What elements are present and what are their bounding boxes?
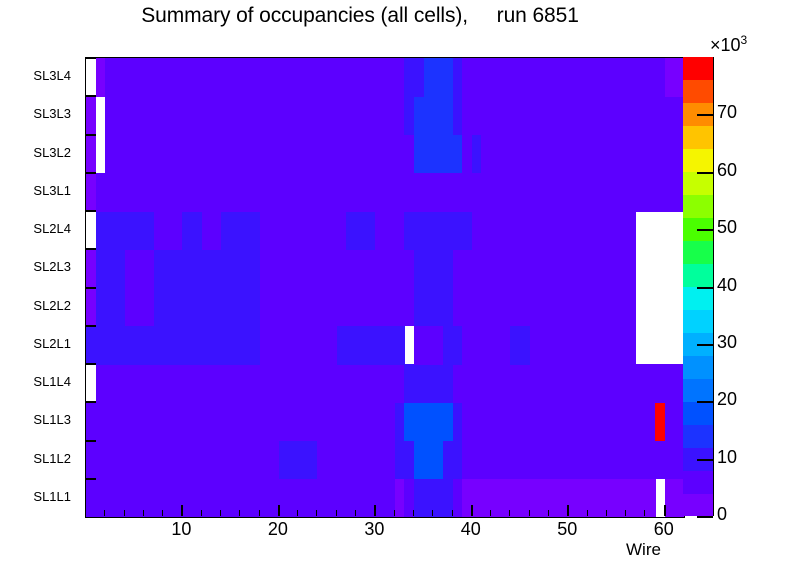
color-scale-label-50: 50 [717,217,737,238]
color-scale-label-0: 0 [717,504,727,525]
color-scale-band [683,287,713,310]
color-scale-band [683,424,713,447]
color-scale-band [683,378,713,401]
color-scale-axis [713,57,714,516]
heatmap-cell[interactable] [626,288,636,327]
x-axis-tick-minor [336,510,337,516]
y-axis-tick [85,287,96,289]
x-axis-tick-major [664,505,666,516]
x-axis-tick-minor [548,510,549,516]
color-scale-band [683,241,713,264]
x-axis-tick-minor [355,510,356,516]
color-scale-band [683,80,713,103]
y-axis-label-sl3l3: SL3L3 [0,106,71,121]
y-axis-tick [85,325,96,327]
x-axis-tick-minor [625,510,626,516]
x-axis-tick-major [567,505,569,516]
heatmap-cell[interactable] [86,96,96,135]
x-axis-title: Wire [626,540,661,560]
y-axis-tick [85,210,96,212]
y-axis-label-sl2l1: SL2L1 [0,336,71,351]
y-axis-tick [85,478,96,480]
color-scale-band [683,149,713,172]
x-axis-tick-minor [201,510,202,516]
y-axis-label-sl3l2: SL3L2 [0,145,71,160]
color-scale-exponent: 3 [741,33,748,47]
color-scale-label-30: 30 [717,332,737,353]
color-scale-tick [697,172,713,174]
heatmap-cell[interactable] [395,326,405,365]
x-axis-tick-minor [162,510,163,516]
y-axis-tick [85,248,96,250]
x-axis-label-10: 10 [156,519,206,540]
x-axis-tick-major [471,505,473,516]
color-scale-tick [697,459,713,461]
color-scale-label-60: 60 [717,160,737,181]
y-axis-label-sl2l2: SL2L2 [0,298,71,313]
x-axis-tick-minor [452,510,453,516]
color-scale-label-10: 10 [717,447,737,468]
x-axis-tick-minor [259,510,260,516]
color-scale-label-20: 20 [717,389,737,410]
y-axis-label-sl3l1: SL3L1 [0,183,71,198]
y-axis-label-sl3l4: SL3L4 [0,68,71,83]
heatmap-cells[interactable] [86,58,684,517]
x-axis-tick-major [278,505,280,516]
x-axis-tick-minor [104,510,105,516]
color-scale-label-70: 70 [717,102,737,123]
x-axis-tick-minor [432,510,433,516]
page-title: Summary of occupancies (all cells), run … [0,4,720,28]
y-axis-tick [85,95,96,97]
heatmap-frame[interactable] [85,57,685,518]
x-axis-tick-minor [587,510,588,516]
x-axis-tick-minor [316,510,317,516]
y-axis-label-sl1l3: SL1L3 [0,412,71,427]
color-scale-tick [697,401,713,403]
x-axis-tick-major [374,505,376,516]
color-scale-label-40: 40 [717,275,737,296]
x-axis-label-20: 20 [253,519,303,540]
y-axis-label-sl2l4: SL2L4 [0,221,71,236]
color-scale-band [683,126,713,149]
x-axis-tick-minor [509,510,510,516]
y-axis-tick [85,363,96,365]
x-axis-tick-minor [239,510,240,516]
color-scale-band [683,355,713,378]
y-axis-label-sl1l2: SL1L2 [0,451,71,466]
x-axis-label-60: 60 [639,519,689,540]
x-axis-tick-minor [606,510,607,516]
heatmap-cell[interactable] [626,249,636,288]
heatmap-cell[interactable] [626,211,636,250]
x-axis-label-30: 30 [349,519,399,540]
heatmap-cell[interactable] [645,479,655,517]
color-scale-band [683,493,713,516]
color-scale-tick [697,516,713,518]
x-axis-tick-major [181,505,183,516]
y-axis-label-sl1l4: SL1L4 [0,374,71,389]
color-scale-band [683,401,713,424]
x-axis-tick-minor [124,510,125,516]
heatmap-cell[interactable] [626,326,636,365]
x-axis-tick-minor [394,510,395,516]
color-scale-tick [697,114,713,116]
x-axis-label-50: 50 [542,519,592,540]
x-axis-label-40: 40 [446,519,496,540]
y-axis-tick [85,401,96,403]
x-axis-tick-minor [297,510,298,516]
y-axis-label-sl2l3: SL2L3 [0,259,71,274]
color-scale-tick [697,287,713,289]
x-axis-tick-minor [143,510,144,516]
x-axis-tick-minor [413,510,414,516]
y-axis-tick [85,134,96,136]
color-scale-tick [697,229,713,231]
y-axis-tick [85,172,96,174]
y-axis-tick [85,440,96,442]
x-axis-tick-minor [220,510,221,516]
x-axis-tick-minor [644,510,645,516]
color-scale-tick [697,344,713,346]
x-axis-tick-minor [529,510,530,516]
color-scale-multiplier: ×103 [710,33,747,56]
color-scale-band [683,57,713,80]
x-axis-tick-minor [490,510,491,516]
color-scale-band [683,309,713,332]
heatmap-cell[interactable] [86,135,96,174]
color-scale-band [683,264,713,287]
y-axis-tick [85,57,96,59]
color-scale-band [683,195,713,218]
plot-canvas: Summary of occupancies (all cells), run … [0,0,796,572]
color-scale-band [683,172,713,195]
y-axis-label-sl1l1: SL1L1 [0,489,71,504]
color-scale-band [683,470,713,493]
